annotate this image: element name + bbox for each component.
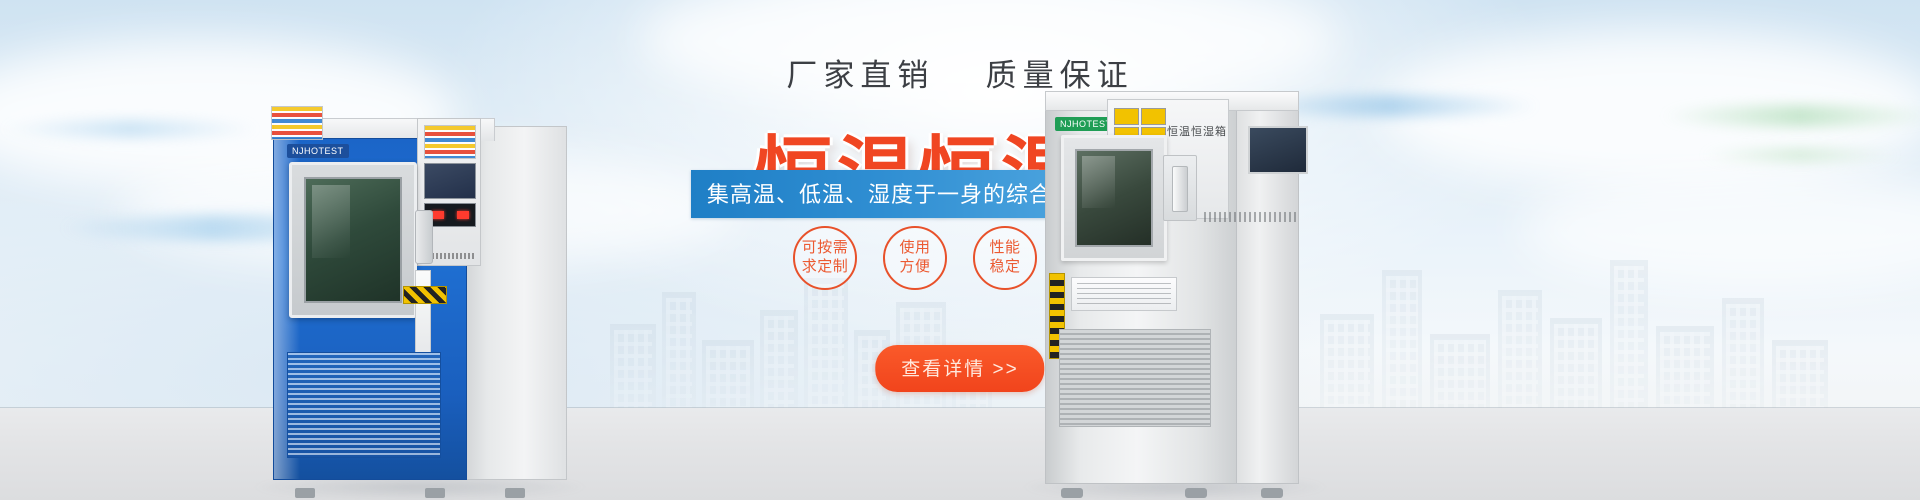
feature-3-line2: 稳定 bbox=[989, 258, 1020, 277]
feature-1-line2: 求定制 bbox=[802, 258, 849, 277]
promo-banner: NJHOTEST 厂家直销 质量保证 恒温恒湿箱 集高温、低温、湿度于一身的综合… bbox=[0, 0, 1920, 500]
product-image-left: NJHOTEST bbox=[265, 100, 565, 490]
product-image-right: NJHOTEST 恒温恒湿箱 bbox=[1035, 77, 1305, 492]
brand-badge-left: NJHOTEST bbox=[287, 144, 349, 158]
feature-1-line1: 可按需 bbox=[802, 239, 849, 258]
view-details-button[interactable]: 查看详情 >> bbox=[875, 345, 1044, 392]
eyebrow-left-text: 厂家直销 bbox=[786, 58, 934, 93]
feature-3-line1: 性能 bbox=[989, 239, 1020, 258]
feature-circle-2[interactable]: 使用 方便 bbox=[883, 226, 947, 290]
feature-2-line2: 方便 bbox=[899, 258, 930, 277]
cabinet-label-right: 恒温恒湿箱 bbox=[1167, 124, 1223, 140]
feature-2-line1: 使用 bbox=[899, 239, 930, 258]
feature-circle-1[interactable]: 可按需 求定制 bbox=[793, 226, 857, 290]
feature-circle-3[interactable]: 性能 稳定 bbox=[973, 226, 1037, 290]
